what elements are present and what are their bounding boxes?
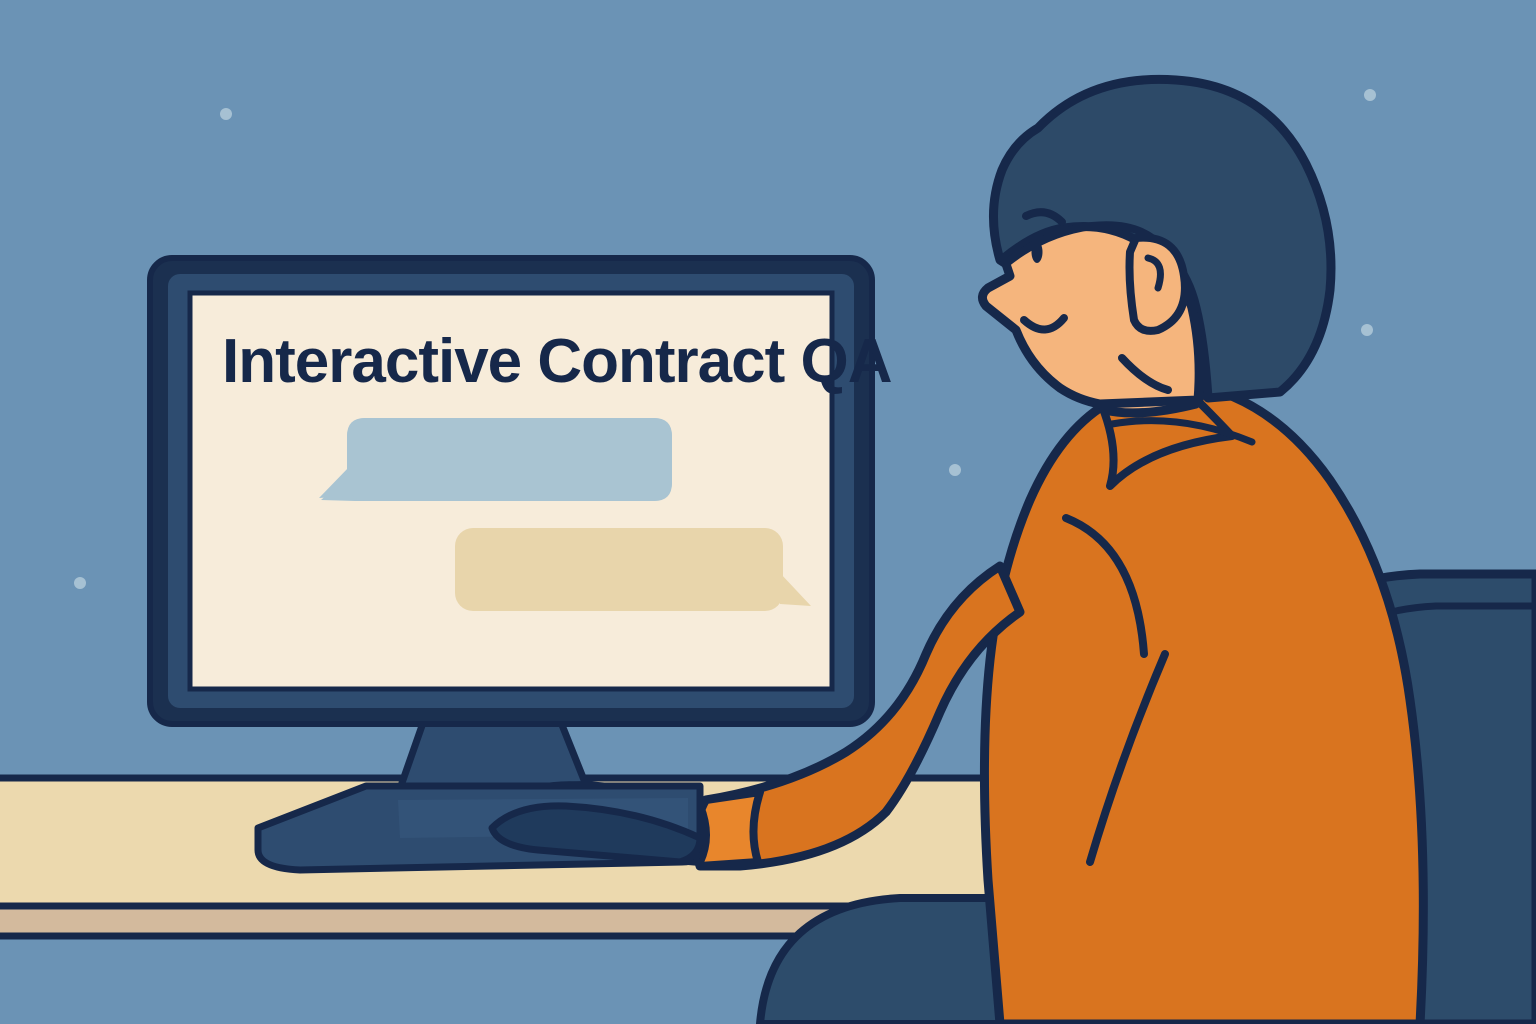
speck — [74, 577, 86, 589]
speck — [1364, 89, 1376, 101]
speck — [949, 464, 961, 476]
eye — [1032, 241, 1043, 263]
scene-svg: Interactive Contract QA — [0, 0, 1536, 1024]
screen-title: Interactive Contract QA — [222, 327, 892, 396]
speck — [220, 108, 232, 120]
answer-bubble-body — [455, 528, 783, 611]
illustration-canvas: Interactive Contract QA — [0, 0, 1536, 1024]
input-devices[interactable] — [258, 786, 700, 870]
answer-bubble[interactable] — [455, 528, 811, 611]
speck — [1361, 324, 1373, 336]
question-bubble[interactable] — [319, 418, 672, 501]
question-bubble-body — [347, 418, 672, 501]
